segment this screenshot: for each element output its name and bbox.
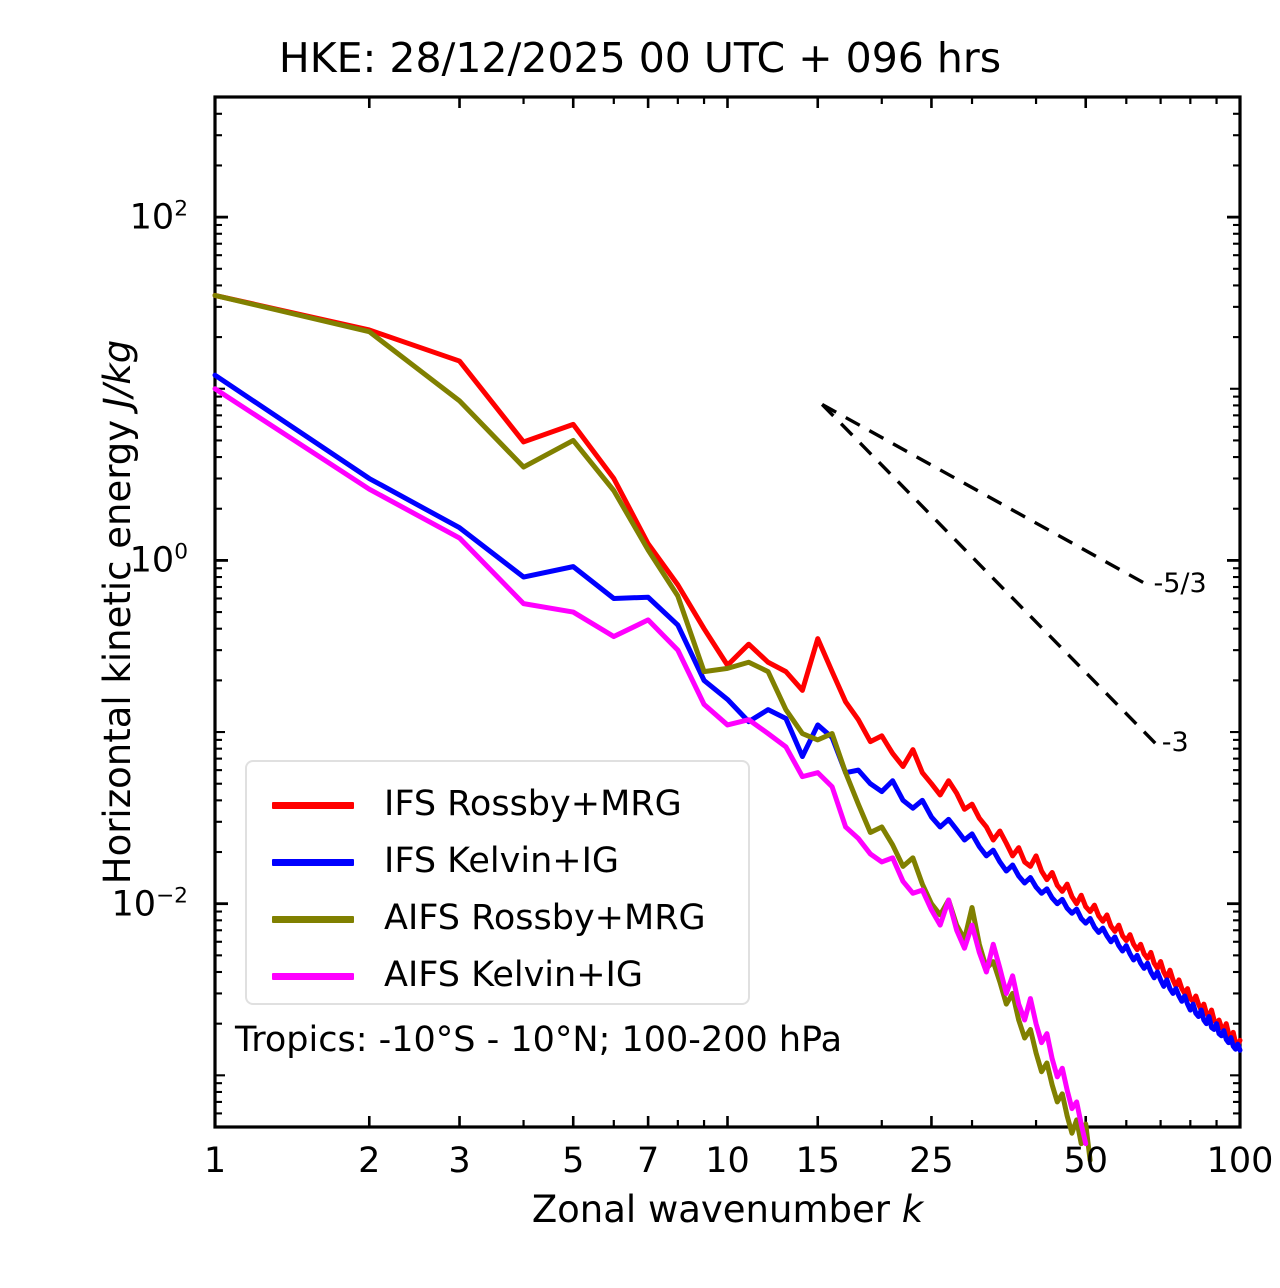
x-axis-tick-label: 25 (909, 1141, 954, 1181)
legend-item[interactable]: AIFS Kelvin+IG (247, 945, 748, 1006)
legend-item[interactable]: IFS Rossby+MRG (247, 774, 748, 835)
y-axis-tick-label: 10−2 (111, 883, 188, 924)
legend-color-swatch (272, 916, 354, 923)
legend-color-swatch (272, 802, 354, 809)
legend-item[interactable]: AIFS Rossby+MRG (247, 888, 748, 949)
legend-item-label: AIFS Rossby+MRG (384, 888, 706, 949)
legend-color-swatch (272, 859, 354, 866)
y-axis-tick-label: 102 (130, 197, 188, 238)
x-axis-tick-label: 50 (1063, 1141, 1108, 1181)
legend-color-swatch (272, 973, 354, 980)
region-annotation: Tropics: -10°S - 10°N; 100-200 hPa (235, 1020, 842, 1060)
reference-slope-label: -3 (1162, 727, 1189, 758)
x-axis-tick-label: 5 (562, 1141, 584, 1181)
x-axis-tick-label: 15 (795, 1141, 840, 1181)
plot-canvas (0, 0, 1280, 1288)
x-axis-tick-label: 2 (358, 1141, 380, 1181)
reference-slope-label: -5/3 (1154, 568, 1207, 599)
reference-slope-line (822, 404, 1147, 584)
reference-slope-line (822, 404, 1156, 743)
legend-item-label: AIFS Kelvin+IG (384, 945, 643, 1006)
x-axis-tick-label: 7 (637, 1141, 659, 1181)
legend-item[interactable]: IFS Kelvin+IG (247, 831, 748, 892)
x-axis-tick-label: 10 (705, 1141, 750, 1181)
x-axis-tick-label: 1 (204, 1141, 226, 1181)
chart-figure: HKE: 28/12/2025 00 UTC + 096 hrs Horizon… (0, 0, 1280, 1288)
y-axis-tick-label: 100 (130, 540, 188, 581)
legend-item-label: IFS Kelvin+IG (384, 831, 619, 892)
x-axis-tick-label: 100 (1207, 1141, 1274, 1181)
chart-legend: IFS Rossby+MRGIFS Kelvin+IGAIFS Rossby+M… (245, 760, 750, 1005)
legend-item-label: IFS Rossby+MRG (384, 774, 682, 835)
x-axis-tick-label: 3 (448, 1141, 470, 1181)
